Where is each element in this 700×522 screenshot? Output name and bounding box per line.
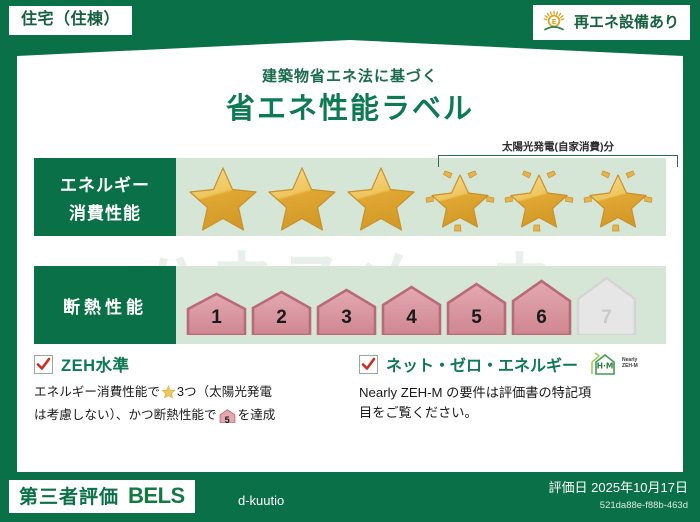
netzero-title: ネット・ゼロ・エネルギー bbox=[386, 352, 578, 376]
insulation-level-number: 7 bbox=[575, 307, 638, 329]
building-type-tag: 住宅（住棟） bbox=[9, 6, 132, 35]
criteria-panels: ZEH水準 エネルギー消費性能で3つ（太陽光発電 は考慮しない）、かつ断熱性能で… bbox=[34, 352, 666, 456]
bels-jp-label: 第三者評価 bbox=[19, 488, 119, 507]
zeh-description: エネルギー消費性能で3つ（太陽光発電 は考慮しない）、かつ断熱性能で5を達成 bbox=[34, 383, 327, 429]
solar-note-label: 太陽光発電(自家消費)分 bbox=[438, 139, 678, 154]
bels-logo: 第三者評価 BELS bbox=[9, 480, 195, 513]
insulation-level-number: 4 bbox=[380, 307, 443, 329]
energy-label-line1: エネルギー bbox=[60, 171, 150, 196]
star-filled bbox=[264, 162, 340, 232]
insulation-level-number: 1 bbox=[185, 307, 248, 329]
label-subtitle: 建築物省エネ法に基づく bbox=[0, 65, 700, 86]
evaluation-date-value: 2025年10月17日 bbox=[591, 480, 688, 495]
star-filled bbox=[343, 162, 419, 232]
svg-text:H·M: H·M bbox=[597, 362, 614, 371]
star-filled-solar bbox=[422, 162, 498, 232]
insulation-performance-row: 断熱性能 1 bbox=[34, 266, 666, 344]
insulation-level-scale: 1 2 3 4 bbox=[185, 275, 638, 335]
solar-sun-icon: E bbox=[541, 10, 567, 34]
energy-performance-value: 太陽光発電(自家消費)分 bbox=[176, 158, 666, 236]
bels-en-label: BELS bbox=[128, 485, 185, 507]
inline-house-badge: 5 bbox=[219, 409, 236, 430]
zeh-panel-header: ZEH水準 bbox=[34, 352, 327, 376]
insulation-level-7: 7 bbox=[575, 275, 638, 335]
evaluation-id: 521da88e-f88b-463d bbox=[600, 500, 688, 511]
svg-text:E: E bbox=[552, 18, 557, 26]
energy-performance-row: エネルギー 消費性能 太陽光発電(自家消費)分 bbox=[34, 158, 666, 236]
check-icon bbox=[361, 357, 376, 372]
zehm-logo: H·M Nearly ZEH-M bbox=[590, 352, 638, 376]
label-title: 省エネ性能ラベル bbox=[0, 85, 700, 127]
insulation-level-number: 2 bbox=[250, 307, 313, 329]
insulation-level-3: 3 bbox=[315, 287, 378, 335]
insulation-performance-value: 1 2 3 4 bbox=[176, 266, 666, 344]
insulation-performance-label: 断熱性能 bbox=[34, 266, 176, 344]
inline-house-number: 5 bbox=[219, 414, 236, 428]
netzero-desc-line2: 目をご覧ください。 bbox=[359, 405, 478, 420]
insulation-level-number: 3 bbox=[315, 307, 378, 329]
netzero-description: Nearly ZEH-M の要件は評価書の特記項 目をご覧ください。 bbox=[359, 383, 652, 424]
inline-star-icon bbox=[161, 384, 176, 406]
evaluation-date: 評価日 2025年10月17日 bbox=[549, 481, 688, 495]
zehm-caption: Nearly ZEH-M bbox=[622, 358, 638, 370]
zeh-checkbox bbox=[34, 355, 53, 374]
insulation-level-6: 6 bbox=[510, 278, 573, 335]
check-icon bbox=[36, 357, 51, 372]
owner-name: d-kuutio bbox=[238, 493, 284, 508]
zeh-title: ZEH水準 bbox=[61, 352, 130, 376]
zeh-desc-part3: は考慮しない）、かつ断熱性能で bbox=[34, 408, 217, 422]
netzero-desc-line1: Nearly ZEH-M の要件は評価書の特記項 bbox=[359, 385, 591, 400]
zeh-panel: ZEH水準 エネルギー消費性能で3つ（太陽光発電 は考慮しない）、かつ断熱性能で… bbox=[34, 352, 341, 456]
star-filled-solar bbox=[580, 162, 656, 232]
energy-performance-label: エネルギー 消費性能 bbox=[34, 158, 176, 236]
insulation-level-4: 4 bbox=[380, 284, 443, 335]
zehm-caption-line2: ZEH-M bbox=[622, 363, 638, 369]
star-filled bbox=[185, 162, 261, 232]
insulation-label-text: 断熱性能 bbox=[63, 293, 147, 318]
renewable-badge-label: 再エネ設備あり bbox=[574, 15, 679, 30]
footer-bar: 第三者評価 BELS d-kuutio 評価日 2025年10月17日 521d… bbox=[0, 472, 700, 522]
insulation-level-number: 6 bbox=[510, 307, 573, 329]
netzero-checkbox bbox=[359, 355, 378, 374]
netzero-panel: ネット・ゼロ・エネルギー H·M Nearly ZEH-M Nearly ZEH… bbox=[341, 352, 666, 456]
insulation-level-5: 5 bbox=[445, 281, 508, 335]
evaluation-date-label: 評価日 bbox=[549, 480, 588, 495]
insulation-level-number: 5 bbox=[445, 307, 508, 329]
zeh-desc-part4: を達成 bbox=[238, 408, 276, 422]
insulation-level-1: 1 bbox=[185, 291, 248, 335]
netzero-panel-header: ネット・ゼロ・エネルギー H·M Nearly ZEH-M bbox=[359, 352, 652, 376]
star-filled-solar bbox=[501, 162, 577, 232]
insulation-level-2: 2 bbox=[250, 289, 313, 335]
bels-energy-label: 住宅（住棟） E 再エネ設備あり bbox=[0, 0, 700, 522]
zeh-desc-part1: エネルギー消費性能で bbox=[34, 385, 160, 399]
energy-label-line2: 消費性能 bbox=[69, 199, 141, 224]
zeh-desc-part2: 3つ（太陽光発電 bbox=[177, 385, 272, 399]
renewable-equipment-badge: E 再エネ設備あり bbox=[533, 5, 690, 40]
star-rating bbox=[185, 162, 656, 232]
zehm-house-icon: H·M bbox=[590, 352, 620, 376]
